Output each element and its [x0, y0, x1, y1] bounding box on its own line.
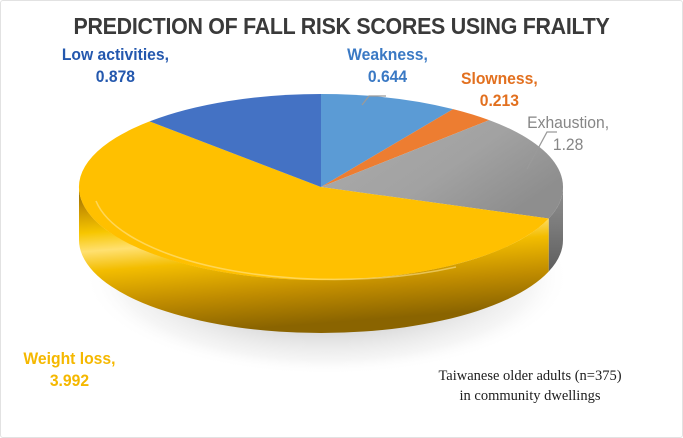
chart-figure: PREDICTION OF FALL RISK SCORES USING FRA…	[0, 0, 683, 438]
data-label-exhaustion-name: Exhaustion,	[527, 114, 609, 132]
data-label-low-activities: Low activities, 0.878	[62, 45, 169, 89]
data-label-exhaustion-value: 1.28	[527, 135, 609, 157]
chart-annotation-line1: Taiwanese older adults (n=375)	[438, 368, 621, 384]
data-label-weakness: Weakness, 0.644	[347, 45, 428, 89]
chart-annotation: Taiwanese older adults (n=375) in commun…	[405, 367, 655, 406]
data-label-slowness: Slowness, 0.213	[461, 69, 538, 113]
data-label-weight-loss-name: Weight loss,	[23, 350, 115, 368]
data-label-weight-loss-value: 3.992	[23, 371, 115, 393]
data-label-weakness-name: Weakness,	[347, 46, 428, 64]
data-label-slowness-name: Slowness,	[461, 70, 538, 88]
chart-annotation-line2: in community dwellings	[405, 387, 655, 407]
data-label-low-activities-name: Low activities,	[62, 46, 169, 64]
data-label-exhaustion: Exhaustion, 1.28	[527, 113, 609, 157]
data-label-weakness-value: 0.644	[347, 67, 428, 89]
data-label-weight-loss: Weight loss, 3.992	[23, 349, 115, 393]
data-label-slowness-value: 0.213	[461, 91, 538, 113]
data-label-low-activities-value: 0.878	[62, 67, 169, 89]
